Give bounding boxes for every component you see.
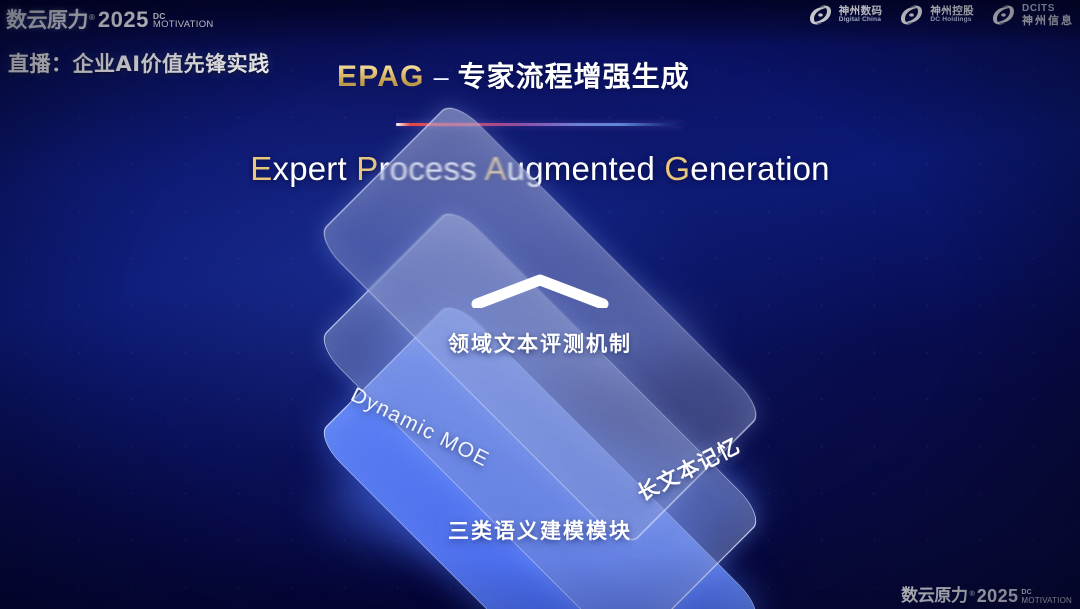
swirl-logo-icon xyxy=(807,4,834,26)
brand-sub-motivation: MOTIVATION xyxy=(153,21,214,30)
brand-registered-mark: ® xyxy=(89,14,95,22)
partner-logo-dc-holdings: 神州控股 DC Holdings xyxy=(898,4,974,26)
brand-name-cn: 数云原力 xyxy=(6,10,88,31)
subtitle-expansion: Expert Process Augmented Generation xyxy=(0,150,1080,188)
swirl-logo-icon xyxy=(990,4,1017,26)
subtitle-word-expert: Expert xyxy=(250,150,347,187)
footer-watermark: 数云原力 ® 2025 DC MOTIVATION xyxy=(901,587,1072,605)
partner-names: 神州数码 Digital China xyxy=(839,6,883,24)
watermark-sub-motivation: MOTIVATION xyxy=(1021,597,1072,604)
partner-logo-dcits: DCITS 神州信息 xyxy=(990,4,1074,26)
partner-name-en: DCITS xyxy=(1022,4,1074,15)
watermark-name-cn: 数云原力 xyxy=(901,588,967,605)
partner-names: DCITS 神州信息 xyxy=(1022,4,1074,26)
slide-title: EPAG – 专家流程增强生成 xyxy=(337,55,690,95)
swirl-logo-icon xyxy=(898,4,925,26)
title-separator: – xyxy=(434,62,449,93)
partner-name-en: Digital China xyxy=(839,17,883,24)
brand-year: 2025 xyxy=(98,9,149,31)
partner-names: 神州控股 DC Holdings xyxy=(930,6,974,24)
live-session-label: 直播：企业AI价值先锋实践 xyxy=(8,48,270,78)
watermark-year: 2025 xyxy=(977,587,1019,605)
partner-name-en: DC Holdings xyxy=(930,17,974,24)
partner-logo-digital-china: 神州数码 Digital China xyxy=(807,4,883,26)
brand-subtitle: DC MOTIVATION xyxy=(153,13,214,30)
title-chinese: 专家流程增强生成 xyxy=(458,55,690,95)
partner-logo-group: 神州数码 Digital China 神州控股 DC Holdings xyxy=(807,4,1074,26)
watermark-subtitle: DC MOTIVATION xyxy=(1021,590,1072,604)
watermark-registered-mark: ® xyxy=(970,591,975,598)
presentation-slide: 数云原力 ® 2025 DC MOTIVATION 直播：企业AI价值先锋实践 … xyxy=(0,0,1080,609)
title-acronym: EPAG xyxy=(337,60,425,94)
layered-architecture-diagram: 领域文本评测机制 Dynamic MOE 长文本记忆 三类语义建模模块 xyxy=(280,232,800,572)
subtitle-word-generation: Generation xyxy=(664,150,829,187)
brand-logo: 数云原力 ® 2025 DC MOTIVATION xyxy=(6,3,214,31)
partner-name-cn: 神州信息 xyxy=(1022,15,1074,27)
